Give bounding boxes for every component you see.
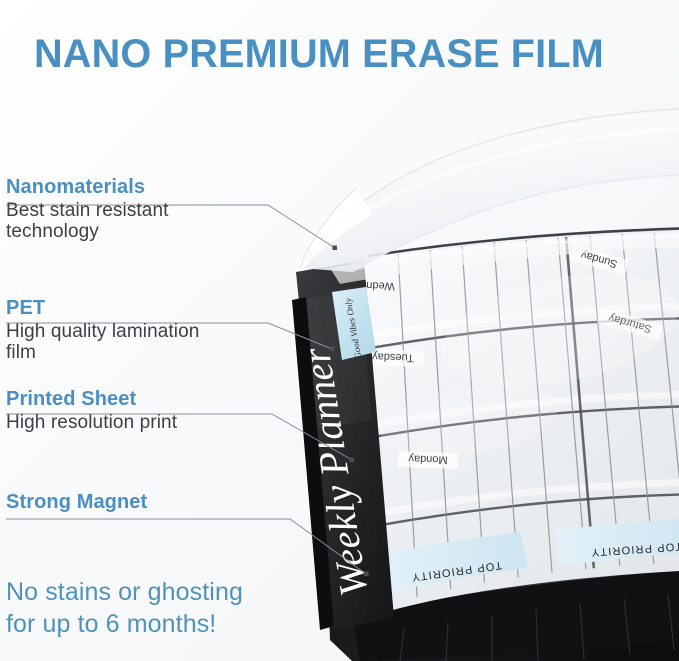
callout-body-line1: Best stain resistant bbox=[6, 200, 169, 221]
tagline-line1: No stains or ghosting bbox=[6, 576, 336, 608]
page-title: NANO PREMIUM ERASE FILM bbox=[34, 31, 648, 77]
svg-text:Tuesday: Tuesday bbox=[371, 350, 414, 363]
callout-heading-printed-sheet: Printed Sheet bbox=[6, 388, 177, 411]
callout-body-printed-sheet: High resolution print bbox=[6, 411, 177, 434]
callout-body-line2: technology bbox=[6, 220, 169, 243]
callout-body-line1: High resolution print bbox=[6, 412, 177, 433]
callout-heading-pet: PET bbox=[6, 297, 199, 320]
callout-body-pet: High quality lamination film bbox=[6, 320, 199, 364]
callout-strong-magnet: Strong Magnet bbox=[6, 491, 147, 514]
tagline: No stains or ghosting for up to 6 months… bbox=[6, 576, 336, 640]
callout-heading-nanomaterials: Nanomaterials bbox=[6, 176, 169, 199]
callout-body-line1: High quality lamination bbox=[6, 321, 199, 342]
callout-pet: PET High quality lamination film bbox=[6, 297, 199, 364]
infographic-canvas: Magnet bbox=[0, 0, 679, 661]
callout-heading-strong-magnet: Strong Magnet bbox=[6, 491, 147, 514]
tagline-line2: for up to 6 months! bbox=[6, 608, 336, 640]
callout-body-nanomaterials: Best stain resistant technology bbox=[6, 199, 169, 243]
callout-body-line2: film bbox=[6, 341, 199, 364]
callout-nanomaterials: Nanomaterials Best stain resistant techn… bbox=[6, 176, 169, 243]
callout-printed-sheet: Printed Sheet High resolution print bbox=[6, 388, 177, 434]
